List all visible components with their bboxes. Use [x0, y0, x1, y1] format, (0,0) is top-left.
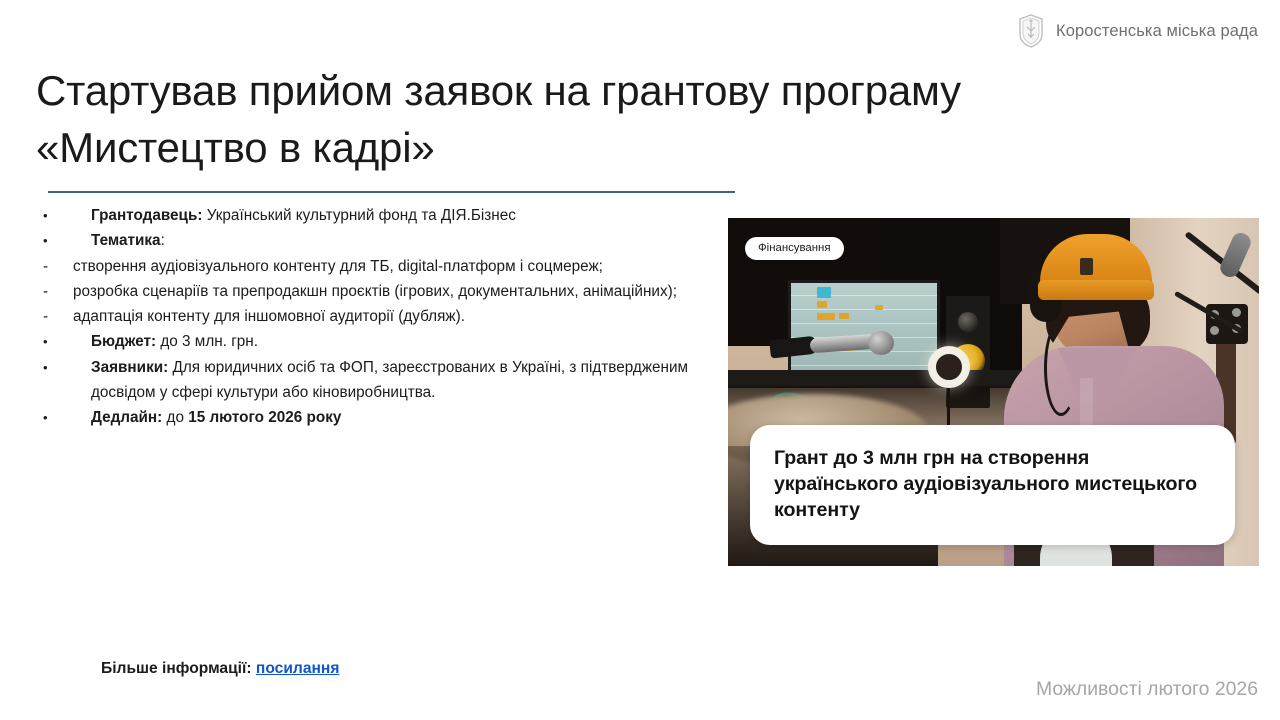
photo-caption-text: Грант до 3 млн грн на створення українсь…: [774, 445, 1211, 523]
list-item-label: Грантодавець:: [91, 207, 202, 224]
brand-header: Коростенська міська рада: [1018, 14, 1258, 48]
brand-name: Коростенська міська рада: [1056, 22, 1258, 41]
list-item-marker: •: [43, 405, 57, 430]
beanie-tag: [1080, 258, 1093, 275]
ring-light: [928, 346, 970, 388]
list-item-text: Заявники: Для юридичних осіб та ФОП, зар…: [36, 355, 716, 406]
studio-photo: Фінансування Грант до 3 млн грн на створ…: [728, 218, 1259, 566]
list-item: •Заявники: Для юридичних осіб та ФОП, за…: [36, 355, 716, 406]
list-item-label: Заявники:: [91, 359, 168, 376]
title-divider: [48, 191, 735, 193]
photo-caption-card: Грант до 3 млн грн на створення українсь…: [750, 425, 1235, 545]
list-item-text: адаптація контенту для іншомовної аудито…: [36, 304, 716, 329]
computer-monitor: [788, 280, 940, 384]
beanie-brim: [1038, 280, 1154, 300]
list-item-marker: -: [43, 254, 57, 279]
list-item-marker: •: [43, 355, 57, 380]
list-item-text: Дедлайн: до 15 лютого 2026 року: [36, 405, 716, 430]
list-item-marker: •: [43, 329, 57, 354]
list-item-text: розробка сценаріїв та препродакшн проєкт…: [36, 279, 716, 304]
deck-footer-note: Можливості лютого 2026: [1036, 678, 1258, 701]
list-item-label: Дедлайн:: [91, 409, 162, 426]
list-item-emphasis: 15 лютого 2026 року: [188, 409, 341, 426]
list-item: •Тематика:: [36, 228, 716, 253]
list-item-text: Грантодавець: Український культурний фон…: [36, 203, 716, 228]
list-item-label: Тематика: [91, 232, 161, 249]
list-item-text: створення аудіовізуального контенту для …: [36, 254, 716, 279]
coat-of-arms-icon: [1018, 14, 1044, 48]
more-info-label: Більше інформації:: [101, 660, 252, 677]
speaker-tweeter: [958, 312, 978, 332]
list-item: •Грантодавець: Український культурний фо…: [36, 203, 716, 228]
list-item-text: Бюджет: до 3 млн. грн.: [36, 329, 716, 354]
more-info: Більше інформації: посилання: [101, 660, 339, 678]
list-item-label: Бюджет:: [91, 333, 156, 350]
list-item-text: Тематика:: [36, 228, 716, 253]
status-badge: Фінансування: [745, 237, 844, 260]
page-title: Стартував прийом заявок на грантову прог…: [36, 62, 1146, 176]
microphone-head: [868, 331, 894, 355]
list-item-marker: -: [43, 279, 57, 304]
list-item: -адаптація контенту для іншомовної аудит…: [36, 304, 716, 329]
headphone-cable: [1044, 320, 1078, 416]
daw-timeline: [791, 283, 937, 381]
list-item-marker: •: [43, 203, 57, 228]
list-item-marker: -: [43, 304, 57, 329]
list-item: •Дедлайн: до 15 лютого 2026 року: [36, 405, 716, 430]
more-info-link[interactable]: посилання: [256, 660, 340, 677]
bullet-list: •Грантодавець: Український культурний фо…: [36, 203, 716, 431]
list-item: -створення аудіовізуального контенту для…: [36, 254, 716, 279]
list-item: •Бюджет: до 3 млн. грн.: [36, 329, 716, 354]
list-item-marker: •: [43, 228, 57, 253]
list-item: -розробка сценаріїв та препродакшн проєк…: [36, 279, 716, 304]
